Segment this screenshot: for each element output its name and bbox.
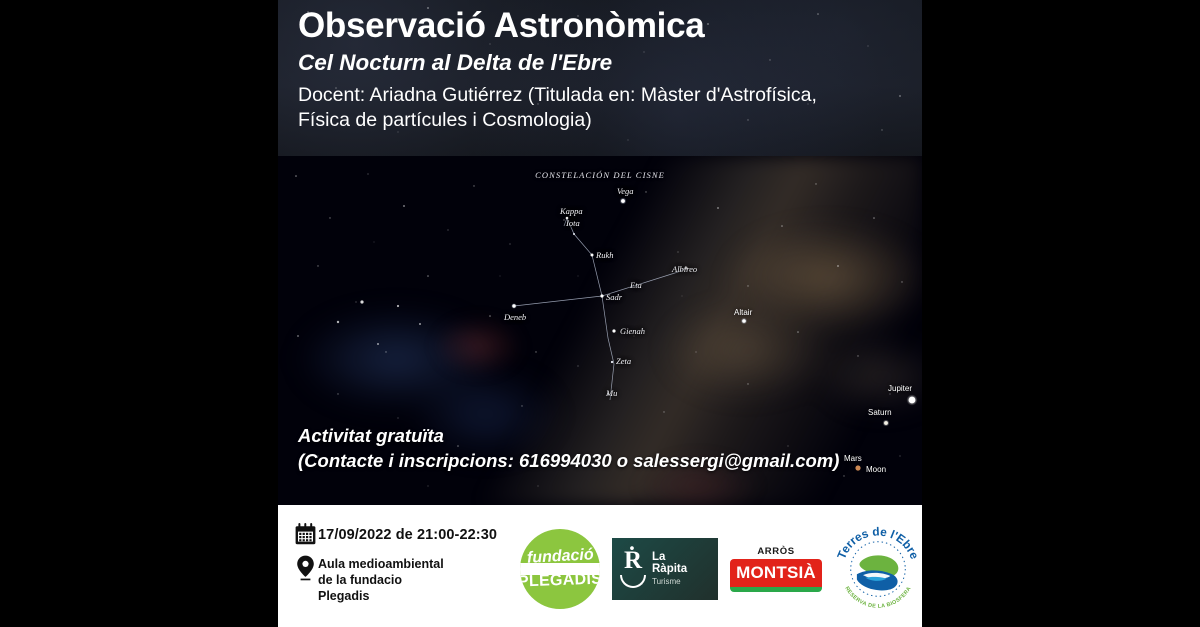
logo-montsia-box: MONTSIÀ (730, 559, 822, 592)
planet-label-moon: Moon (866, 465, 886, 474)
event-date: 17/09/2022 de 21:00-22:30 (318, 523, 497, 543)
logo-la-rapita-turisme[interactable]: Ṙ La Ràpita Turisme (612, 538, 718, 600)
star-label-deneb: Deneb (504, 312, 526, 322)
teacher-info: Docent: Ariadna Gutiérrez (Titulada en: … (298, 83, 904, 132)
star-label-altair: Altair (734, 308, 752, 317)
location-row: Aula medioambiental de la fundacio Plega… (292, 555, 520, 604)
event-location: Aula medioambiental de la fundacio Plega… (318, 555, 444, 604)
star-label-vega: Vega (617, 186, 634, 196)
date-row: 17/09/2022 de 21:00-22:30 (292, 523, 520, 545)
activity-info: Activitat gratuïta (Contacte i inscripci… (298, 424, 839, 473)
constellation-title: CONSTELACIÓN DEL CISNE (278, 170, 922, 180)
logo-terres-de-lebre[interactable]: Terres de l'Ebre RESERVA DE LA BIOSFERA (834, 525, 922, 613)
logo-rapita-line2: Ràpita (652, 563, 687, 575)
free-activity-text: Activitat gratuïta (298, 424, 839, 448)
location-pin-icon (292, 555, 318, 581)
location-line-1: Aula medioambiental (318, 557, 444, 571)
star-label-zeta: Zeta (616, 356, 631, 366)
calendar-icon (292, 523, 318, 545)
poster-header: Observació Astronòmica Cel Nocturn al De… (278, 0, 922, 156)
contact-text: (Contacte i inscripcions: 616994030 o sa… (298, 449, 839, 473)
location-line-2: de la fundacio (318, 573, 402, 587)
page-title: Observació Astronòmica (298, 6, 904, 45)
poster-root: Observació Astronòmica Cel Nocturn al De… (0, 0, 1200, 627)
location-line-3: Plegadis (318, 589, 369, 603)
cygnus-lines (514, 218, 686, 400)
logo-rapita-line1: La (652, 551, 687, 563)
footer-details: 17/09/2022 de 21:00-22:30 Aula medioambi… (278, 505, 520, 614)
logo-montsia-name: MONTSIÀ (736, 563, 816, 583)
logo-fundacio-plegadis[interactable]: fundació PLEGADIS (520, 529, 600, 609)
logo-rapita-text: La Ràpita Turisme (652, 551, 687, 588)
logo-plegadis-line2: PLEGADIS (520, 572, 600, 591)
teacher-line-1: Docent: Ariadna Gutiérrez (Titulada en: … (298, 83, 904, 108)
night-sky-image: CONSTELACIÓN DEL CISNE Vega Kappa Iota R… (278, 156, 922, 505)
poster-content: Observació Astronòmica Cel Nocturn al De… (278, 0, 922, 627)
logo-rapita-line3: Turisme (652, 577, 687, 587)
mars-marker (855, 465, 860, 470)
sponsor-logos: fundació PLEGADIS Ṙ La Ràpita Turisme (520, 505, 922, 613)
star-label-albireo: Albireo (672, 264, 697, 274)
star-label-mu: Mu (606, 388, 617, 398)
logo-rapita-bowl-icon (620, 575, 646, 588)
planet-label-jupiter: Jupiter (888, 384, 912, 393)
poster-footer: 17/09/2022 de 21:00-22:30 Aula medioambi… (278, 505, 922, 627)
star-label-sadr: Sadr (606, 292, 622, 302)
star-label-kappa: Kappa (560, 206, 583, 216)
star-label-gienah: Gienah (620, 326, 645, 336)
logo-montsia-top: ARRÒS (757, 546, 794, 557)
logo-rapita-letter: Ṙ (624, 550, 642, 573)
logo-arros-montsia[interactable]: ARRÒS MONTSIÀ (730, 546, 822, 592)
logo-rapita-mark: Ṙ (620, 550, 646, 588)
page-subtitle: Cel Nocturn al Delta de l'Ebre (298, 49, 904, 76)
teacher-line-2: Física de partícules i Cosmologia) (298, 108, 904, 133)
planet-label-saturn: Saturn (868, 408, 892, 417)
star-label-iota: Iota (566, 218, 580, 228)
star-label-eta: Eta (630, 280, 642, 290)
star-label-rukh: Rukh (596, 250, 613, 260)
planet-label-mars: Mars (844, 454, 862, 463)
